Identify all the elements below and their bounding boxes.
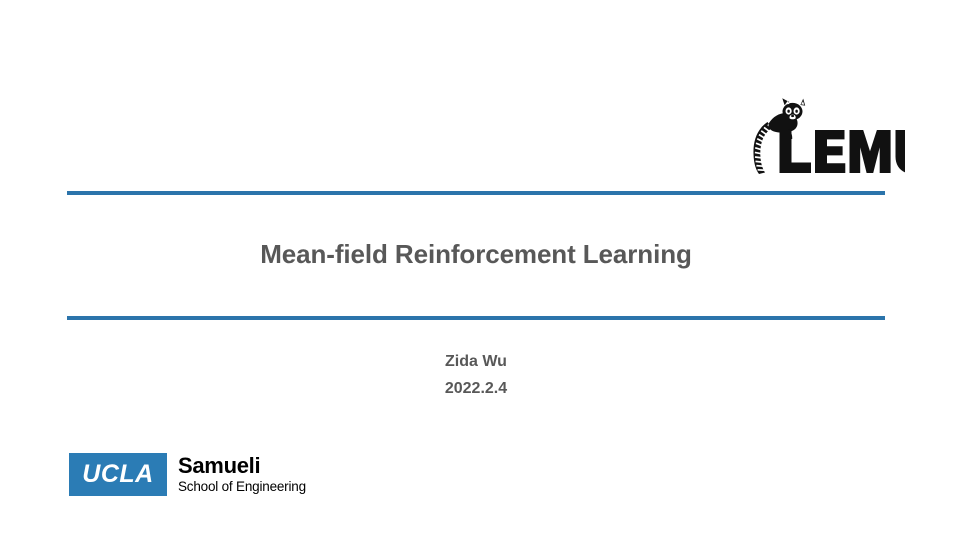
title-slide: Mean-field Reinforcement Learning Zida W… xyxy=(0,0,960,540)
lemur-wordmark xyxy=(780,130,906,174)
ucla-samueli-logo: UCLA Samueli School of Engineering xyxy=(69,453,306,496)
school-name: Samueli xyxy=(178,454,306,477)
lemur-logo xyxy=(745,96,905,176)
page-title: Mean-field Reinforcement Learning xyxy=(67,239,885,270)
byline: Zida Wu 2022.2.4 xyxy=(67,348,885,402)
author-name: Zida Wu xyxy=(67,348,885,375)
presentation-date: 2022.2.4 xyxy=(67,375,885,402)
top-divider xyxy=(67,191,885,195)
ucla-badge: UCLA xyxy=(69,453,167,496)
bottom-divider xyxy=(67,316,885,320)
ucla-badge-text: UCLA xyxy=(82,460,153,489)
samueli-text-block: Samueli School of Engineering xyxy=(178,453,306,496)
school-subtitle: School of Engineering xyxy=(178,478,306,495)
